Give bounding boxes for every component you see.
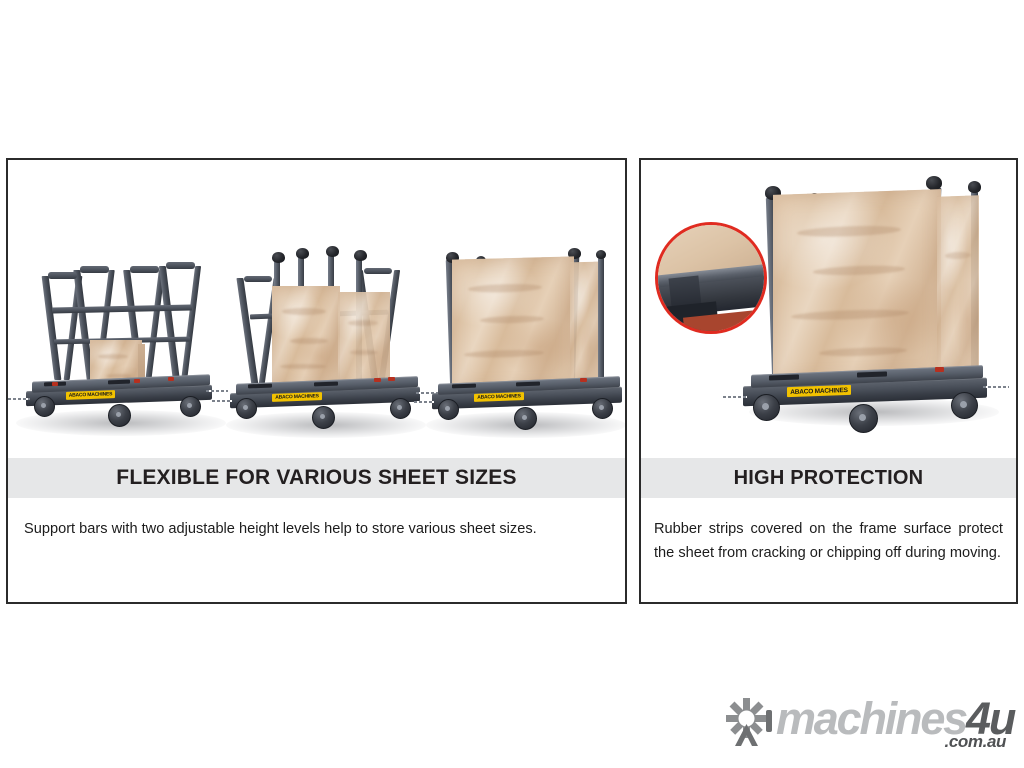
a-frame-leg [159, 266, 180, 382]
locking-pin [935, 367, 944, 372]
tow-chain [983, 386, 1009, 388]
post-knob [968, 181, 981, 193]
a-frame-leg [236, 278, 258, 386]
caster-wheel [514, 407, 536, 429]
tow-chain [414, 401, 434, 403]
locking-pin [374, 378, 381, 382]
slab-vein [797, 224, 901, 238]
base-slot [857, 371, 887, 377]
a-frame-apex [244, 276, 272, 282]
caster-wheel [849, 404, 877, 432]
base-slot [108, 380, 130, 385]
stone-slab [452, 256, 574, 391]
slab-vein [813, 264, 905, 276]
tow-chain [723, 396, 747, 398]
brand-label: ABACO MACHINES [66, 390, 115, 400]
panel-title-band: FLEXIBLE FOR VARIOUS SHEET SIZES [8, 458, 625, 498]
caster-wheel [34, 396, 54, 416]
caster-wheel [236, 398, 256, 418]
stone-slab [272, 286, 340, 390]
post-knob [596, 250, 606, 259]
stone-slab [338, 292, 390, 388]
caster-wheel [312, 406, 334, 428]
locking-pin [388, 377, 395, 381]
stone-slab-rear [937, 195, 979, 378]
caster-wheel [180, 396, 200, 416]
caster-wheel [951, 392, 977, 418]
base-slot [516, 382, 540, 387]
slab-vein [468, 283, 542, 293]
post-knob [296, 248, 309, 259]
a-frame-apex [48, 272, 77, 279]
base-slot [769, 374, 799, 380]
a-frame-apex [364, 268, 392, 274]
caster-wheel [592, 398, 612, 418]
slab-vein [464, 349, 544, 358]
slab-vein [290, 338, 328, 344]
panel-high-protection: ABACO MACHINES HIGH PROTECTION Rubber st… [639, 158, 1018, 604]
post-knob [926, 176, 942, 190]
panel-title-band: HIGH PROTECTION [641, 458, 1016, 498]
slab-vein [280, 364, 326, 369]
a-frame-apex [130, 266, 159, 273]
tow-chain [8, 398, 30, 400]
slab-vein [819, 346, 907, 357]
stone-slab [570, 262, 598, 389]
adjustable-support-post [598, 258, 604, 386]
slab-vein [945, 252, 971, 260]
asterisk-star-icon [722, 696, 772, 748]
logo-word-machines: machines [776, 693, 966, 744]
panel-title: HIGH PROTECTION [734, 467, 924, 490]
panel-body-text: Rubber strips covered on the frame surfa… [641, 498, 1016, 602]
slab-vein [98, 354, 128, 359]
a-frame-apex [80, 266, 109, 273]
locking-pin [580, 378, 587, 382]
locking-pin [134, 379, 140, 383]
caster-wheel [390, 398, 410, 418]
slab-vein [282, 308, 326, 315]
slab-vein [791, 308, 909, 321]
tow-chain [212, 400, 232, 402]
panel-flexible-sheet-sizes: ABACO MACHINES [6, 158, 627, 604]
rubber-strip-detail-inset [655, 222, 767, 334]
photo-cart-with-detail: ABACO MACHINES [641, 160, 1016, 458]
base-slot [248, 384, 272, 389]
post-knob [326, 246, 339, 257]
panel-body-text: Support bars with two adjustable height … [8, 498, 625, 602]
panel-title: FLEXIBLE FOR VARIOUS SHEET SIZES [116, 466, 516, 490]
slab-vein [480, 315, 544, 324]
tow-chain [206, 390, 228, 392]
slab-vein [348, 320, 378, 326]
slab-vein [350, 350, 378, 355]
photo-three-carts: ABACO MACHINES [8, 160, 625, 458]
post-knob [272, 252, 285, 263]
locking-pin [168, 377, 174, 381]
caster-wheel [438, 399, 458, 419]
logo-tld: .com.au [945, 732, 1006, 752]
base-slot [314, 382, 338, 387]
a-frame-leg [42, 276, 62, 380]
machines4u-logo: machines4u .com.au [722, 694, 1014, 752]
post-knob [354, 250, 367, 261]
caster-wheel [108, 404, 130, 426]
locking-pin [52, 382, 58, 386]
stone-slab-front [773, 189, 941, 383]
caster-wheel [753, 394, 779, 420]
base-slot [452, 384, 476, 389]
a-frame-leg [181, 266, 201, 382]
a-frame-apex [166, 262, 195, 269]
